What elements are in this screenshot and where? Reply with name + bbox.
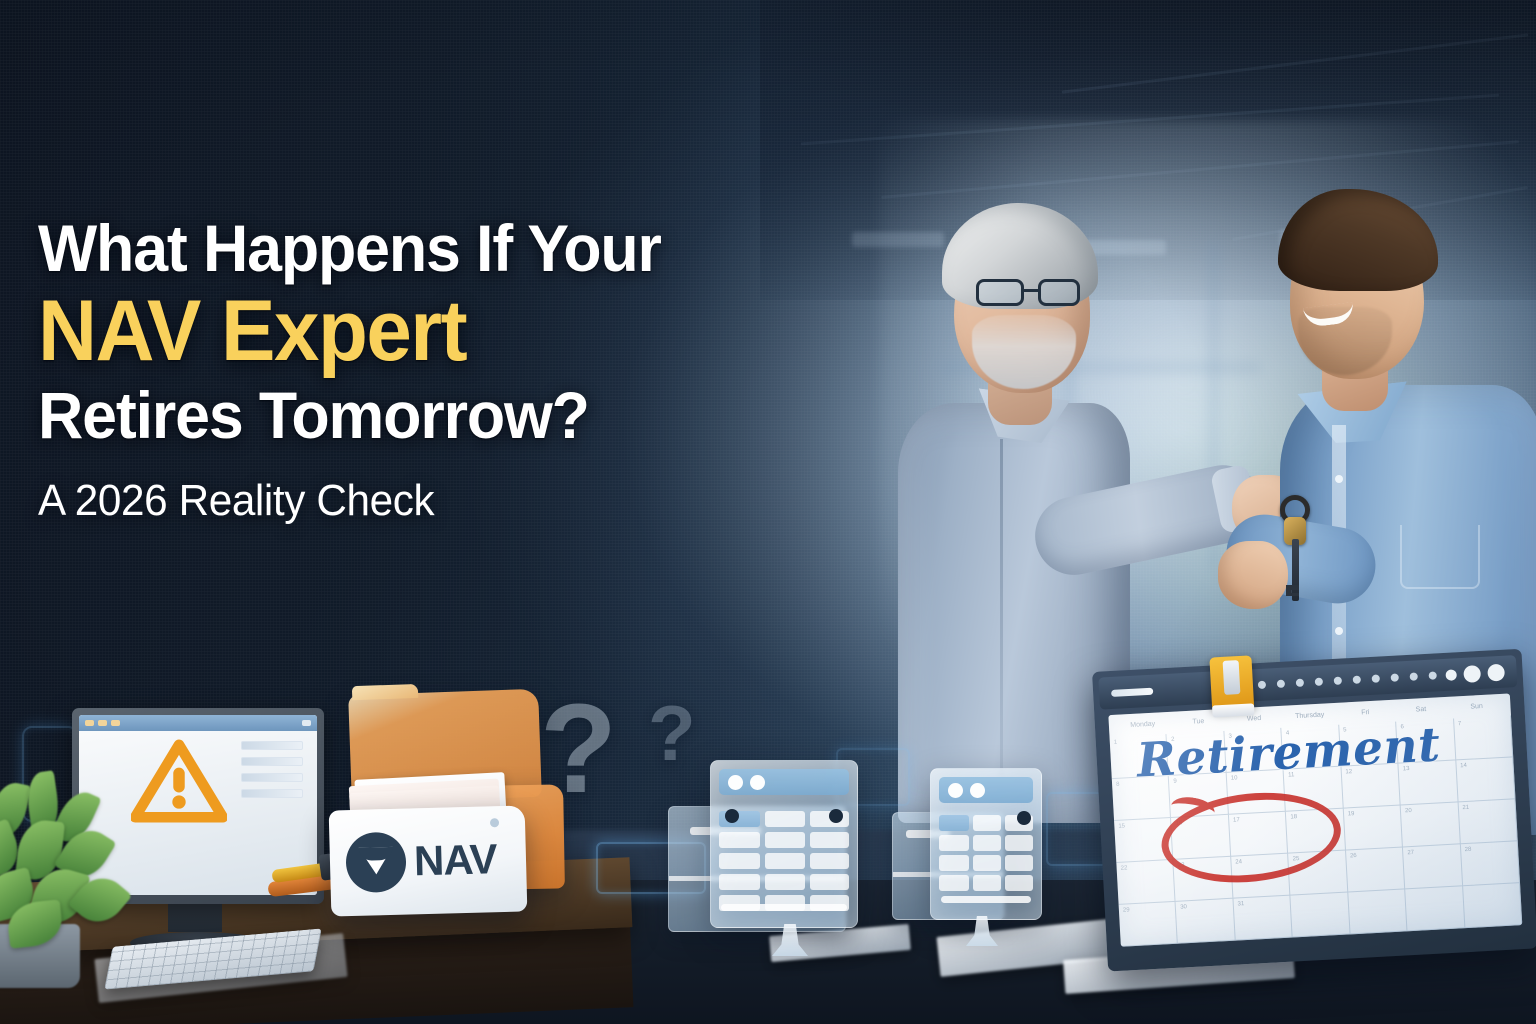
eyeglasses-icon xyxy=(976,279,1092,309)
calendar-controls[interactable] xyxy=(1445,663,1505,683)
calendar-day-number: 22 xyxy=(1121,865,1128,871)
holo-panel-small[interactable] xyxy=(930,768,1042,920)
window-dot-icon xyxy=(111,720,120,726)
calendar-day-cell[interactable]: 19 xyxy=(1343,805,1403,850)
shirt-button xyxy=(1335,475,1343,483)
calendar-day-cell[interactable]: 26 xyxy=(1346,847,1406,892)
calendar-day-number: 29 xyxy=(1123,907,1130,913)
holo-panel-header xyxy=(939,777,1033,803)
calendar-day-cell[interactable] xyxy=(1405,886,1465,931)
nav-wordmark: NAV xyxy=(413,838,497,882)
calendar-day-cell[interactable]: 30 xyxy=(1176,899,1236,944)
headline-accent-line: NAV Expert xyxy=(38,289,789,373)
calendar-day-cell[interactable] xyxy=(1348,889,1408,934)
monitor-list-rows xyxy=(241,741,303,805)
calendar-day-cell[interactable]: 22 xyxy=(1116,860,1176,905)
calendar-day-number: 30 xyxy=(1180,904,1187,910)
yellow-clip-icon xyxy=(1209,655,1254,711)
calendar-day-cell[interactable]: 31 xyxy=(1233,896,1293,941)
nav-brand-sign: NAV xyxy=(329,805,528,916)
calendar-day-cell[interactable]: 21 xyxy=(1458,799,1518,844)
calendar-day-number: 20 xyxy=(1405,808,1412,814)
browser-titlebar xyxy=(79,715,317,731)
slider-handle[interactable] xyxy=(1111,687,1153,696)
headline-line-3: Retires Tomorrow? xyxy=(38,383,789,448)
calendar-day-cell[interactable]: 7 xyxy=(1454,715,1514,760)
keys-icon xyxy=(1268,495,1326,605)
calendar-day-number: 21 xyxy=(1462,805,1469,811)
weekday-label: Monday xyxy=(1115,719,1171,729)
holo-table-grid xyxy=(931,815,1041,899)
question-mark-icon: ? xyxy=(648,688,696,779)
retirement-calendar-board[interactable]: Monday Tue Wed Thursday Fri Sat Sun 1234… xyxy=(1092,649,1536,972)
calendar-day-number: 27 xyxy=(1407,850,1414,856)
calendar-day-cell[interactable]: 29 xyxy=(1119,902,1179,947)
successor-pocket xyxy=(1400,525,1480,589)
calendar-day-cell[interactable]: 14 xyxy=(1456,757,1516,802)
folder-group: NAV xyxy=(336,690,586,910)
holo-table-grid xyxy=(711,811,857,919)
calendar-day-number: 31 xyxy=(1237,901,1244,907)
calendar-day-number: 15 xyxy=(1118,823,1125,829)
holo-footer-bar xyxy=(721,904,847,911)
calendar-day-number: 26 xyxy=(1350,853,1357,859)
desk-plant xyxy=(0,772,162,972)
headline-subtitle: A 2026 Reality Check xyxy=(38,478,796,524)
calendar-day-cell[interactable] xyxy=(1291,892,1351,937)
calendar-day-cell[interactable]: 27 xyxy=(1403,844,1463,889)
shirt-button xyxy=(1335,627,1343,635)
headline-line-1: What Happens If Your xyxy=(38,216,789,281)
nav-chevron-logo-icon xyxy=(345,832,407,894)
sign-dot-icon xyxy=(490,818,499,827)
window-dot-icon xyxy=(98,720,107,726)
holo-node-icon xyxy=(1017,811,1031,825)
calendar-day-number: 28 xyxy=(1465,847,1472,853)
calendar-day-number: 8 xyxy=(1116,782,1120,788)
calendar-day-cell[interactable]: 20 xyxy=(1401,802,1461,847)
holo-node-icon xyxy=(829,809,843,823)
weekday-label: Thursday xyxy=(1282,710,1338,720)
calendar-day-number: 1 xyxy=(1114,740,1118,746)
senior-shirt xyxy=(898,403,1130,823)
calendar-day-number: 14 xyxy=(1460,763,1467,769)
weekday-label: Sat xyxy=(1393,704,1449,714)
window-control-icon[interactable] xyxy=(302,720,311,726)
hero-banner: What Happens If Your NAV Expert Retires … xyxy=(0,0,1536,1024)
calendar-day-number: 7 xyxy=(1458,721,1462,727)
calendar-sheet: Monday Tue Wed Thursday Fri Sat Sun 1234… xyxy=(1108,693,1522,946)
holo-panel-large[interactable] xyxy=(710,760,858,928)
window-dot-icon xyxy=(85,720,94,726)
weekday-label: Tue xyxy=(1170,716,1226,726)
holo-panel-header xyxy=(719,769,849,795)
headline-block: What Happens If Your NAV Expert Retires … xyxy=(38,216,828,524)
calendar-day-cell[interactable] xyxy=(1463,883,1523,928)
calendar-day-number: 19 xyxy=(1348,811,1355,817)
weekday-label: Sun xyxy=(1449,701,1505,711)
calendar-day-cell[interactable]: 28 xyxy=(1460,841,1520,886)
weekday-label: Fri xyxy=(1337,707,1393,717)
holo-node-icon xyxy=(725,809,739,823)
holo-footer-bar xyxy=(941,896,1031,903)
successor-hair xyxy=(1278,189,1438,291)
